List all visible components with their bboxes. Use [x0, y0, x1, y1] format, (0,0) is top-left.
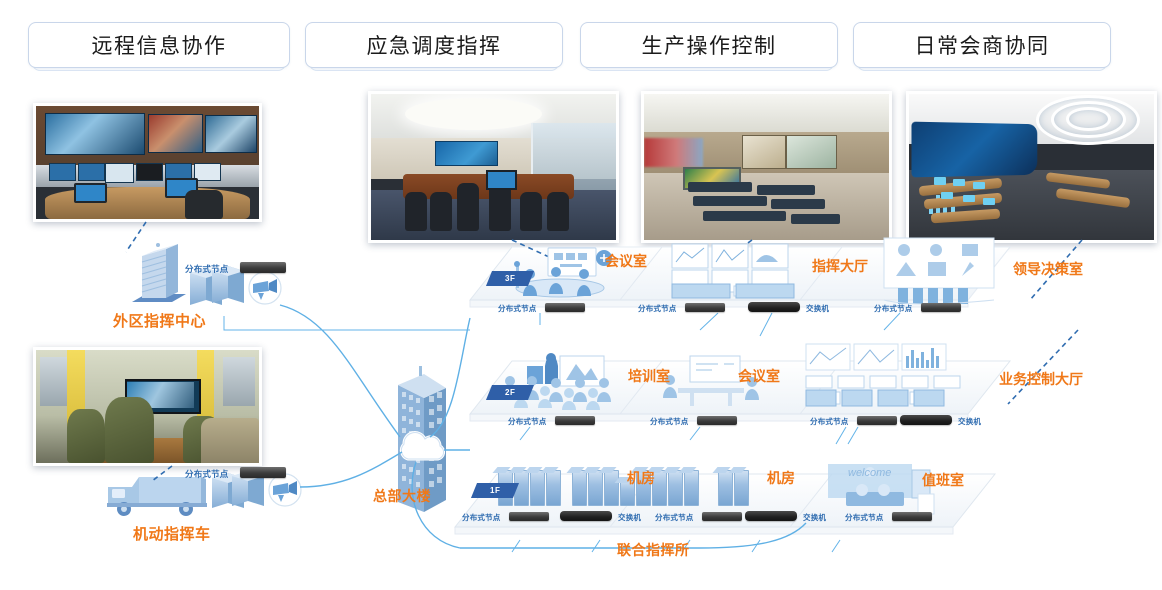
device-chip-2f-node-2 [697, 416, 737, 425]
room-label-1f-serverroom-b: 机房 [767, 471, 795, 485]
room-label-2f-controlhall: 业务控制大厅 [999, 372, 1083, 386]
floor-badge-1f: 1F [471, 483, 519, 498]
room-label-1f-dutyroom: 值班室 [922, 473, 964, 487]
site-label-mobile-vehicle: 机动指挥车 [133, 527, 211, 542]
device-label-2f-switch: 交换机 [958, 418, 981, 426]
device-chip-3f-node-3 [921, 303, 961, 312]
device-chip-external-node [240, 262, 286, 273]
device-chip-1f-switch-2 [745, 511, 797, 521]
device-label-2f-node-3: 分布式节点 [810, 418, 849, 426]
site-label-joint-command: 联合指挥所 [617, 543, 690, 557]
room-furniture-3f-commandhall [672, 244, 794, 298]
device-chip-3f-node-2 [685, 303, 725, 312]
floor-badge-3f-label: 3F [505, 274, 515, 283]
device-label-3f-node-2: 分布式节点 [638, 305, 677, 313]
device-label-3f-node-3: 分布式节点 [874, 305, 913, 313]
device-chip-1f-node-2 [702, 512, 742, 521]
room-label-3f-meeting: 会议室 [605, 254, 647, 268]
device-chip-3f-switch [748, 302, 800, 312]
device-chip-2f-switch [900, 415, 952, 425]
floor-badge-3f: 3F [486, 271, 534, 286]
device-label-2f-node-2: 分布式节点 [650, 418, 689, 426]
device-label-1f-node-3: 分布式节点 [845, 514, 884, 522]
device-chip-2f-node-1 [555, 416, 595, 425]
floor-badge-2f: 2F [486, 385, 534, 400]
device-label-vehicle-node: 分布式节点 [185, 470, 229, 479]
device-chip-1f-switch-1 [560, 511, 612, 521]
room-label-3f-decision: 领导决策室 [1013, 262, 1083, 276]
device-chip-vehicle-node [240, 467, 286, 478]
room-label-2f-training: 培训室 [628, 369, 670, 383]
device-label-3f-node-1: 分布式节点 [498, 305, 537, 313]
command-vehicle-icon [107, 477, 207, 516]
site-label-headquarters: 总部大楼 [373, 489, 431, 503]
device-chip-1f-node-1 [509, 512, 549, 521]
device-label-3f-switch: 交换机 [806, 305, 829, 313]
camera-icon-external [249, 272, 281, 304]
floor-badge-1f-label: 1F [490, 486, 500, 495]
site-label-external-center: 外区指挥中心 [113, 314, 206, 329]
device-label-2f-node-1: 分布式节点 [508, 418, 547, 426]
room-label-1f-serverroom-a: 机房 [627, 471, 655, 485]
device-label-external-node: 分布式节点 [185, 265, 229, 274]
room-label-2f-meeting: 会议室 [738, 369, 780, 383]
device-label-1f-switch-1: 交换机 [618, 514, 641, 522]
device-label-1f-switch-2: 交换机 [803, 514, 826, 522]
diagram-canvas: 远程信息协作 应急调度指挥 生产操作控制 日常会商协同 [0, 0, 1162, 590]
room-label-3f-commandhall: 指挥大厅 [812, 259, 868, 273]
external-center-building-icon [132, 243, 186, 302]
device-chip-1f-node-3 [892, 512, 932, 521]
device-chip-2f-node-3 [857, 416, 897, 425]
floor-badge-2f-label: 2F [505, 388, 515, 397]
reception-welcome-sign: welcome [848, 468, 891, 479]
device-chip-3f-node-1 [545, 303, 585, 312]
camera-icon-vehicle [269, 474, 301, 506]
device-label-1f-node-2: 分布式节点 [655, 514, 694, 522]
device-label-1f-node-1: 分布式节点 [462, 514, 501, 522]
